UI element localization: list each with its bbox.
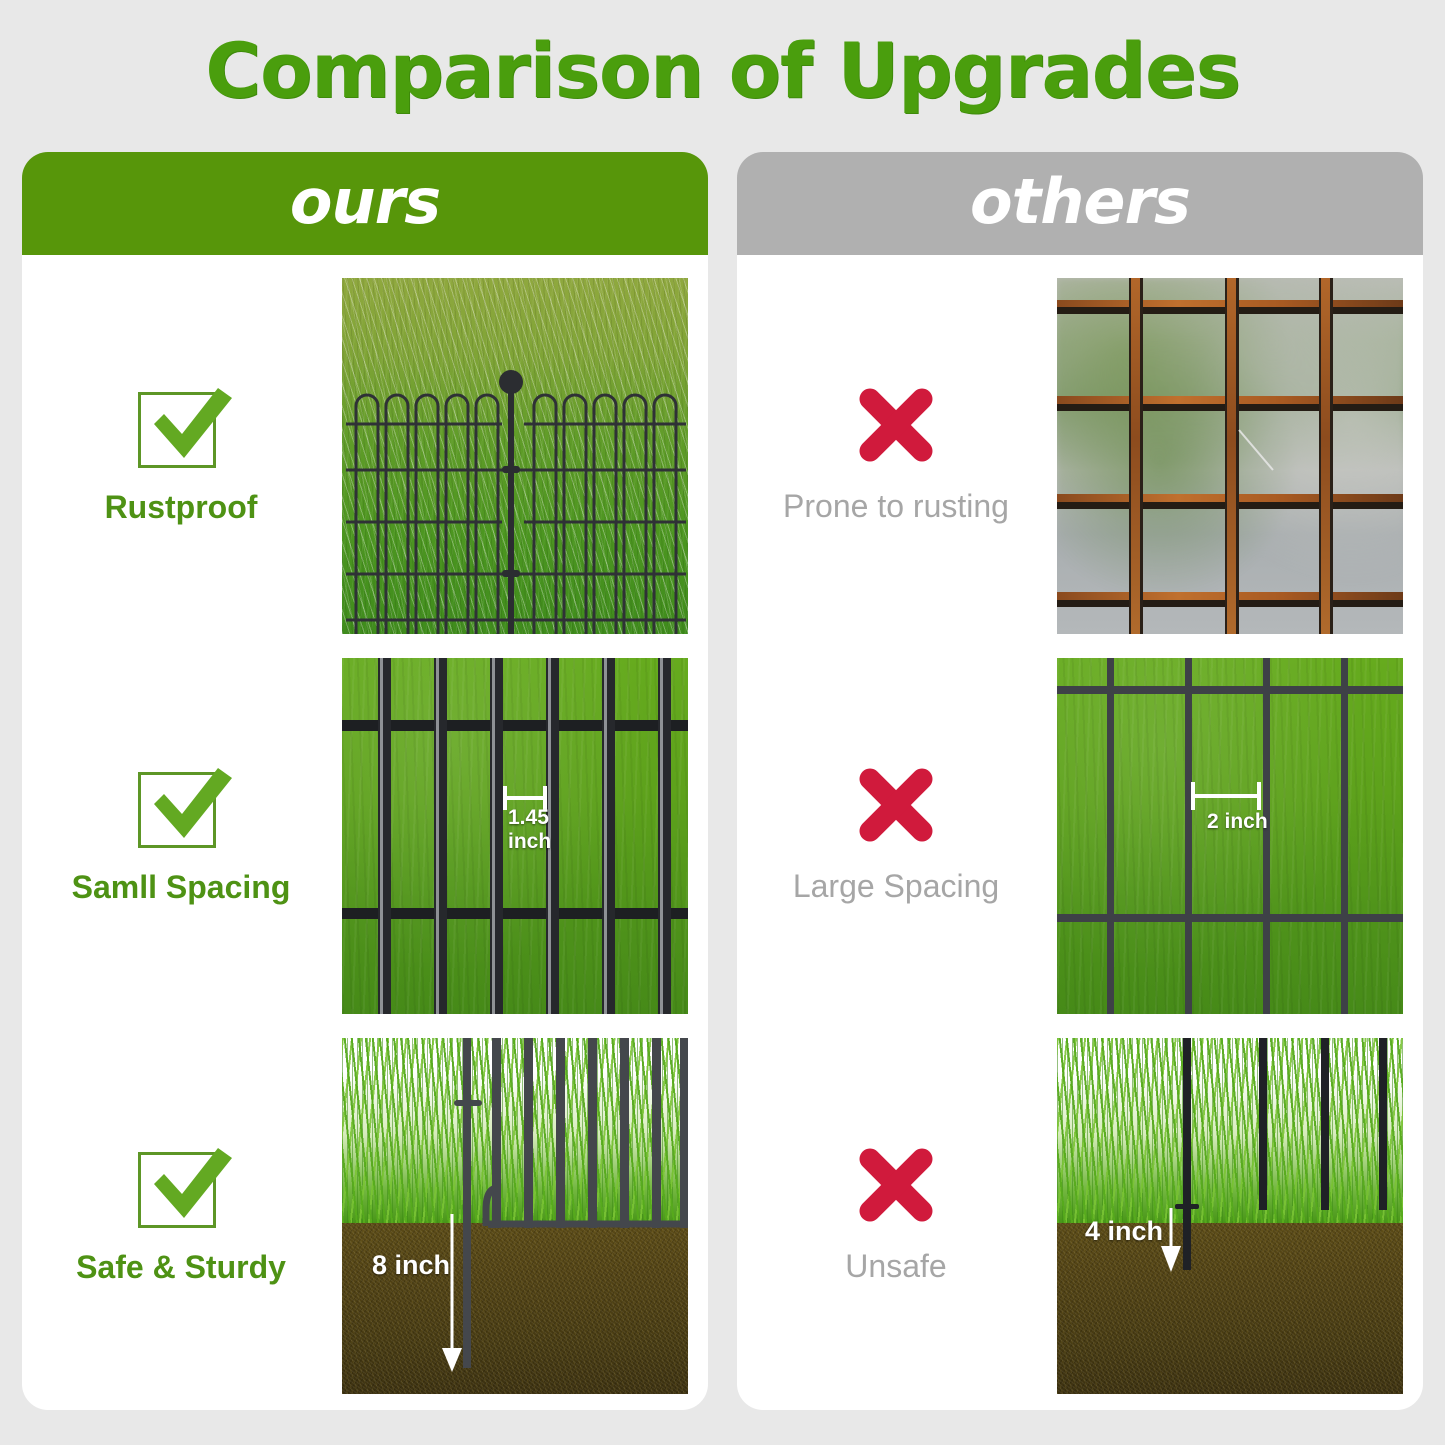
column-header-ours: ours	[22, 152, 708, 255]
shallow-anchor-stake-photo: 4 inch	[1057, 1038, 1403, 1394]
feature-small-spacing: Samll Spacing	[22, 762, 340, 910]
column-others: others Prone to rusting	[737, 152, 1423, 1410]
page-title: Comparison of Upgrades	[0, 28, 1445, 114]
column-header-ours-label: ours	[290, 171, 440, 233]
feature-label-large-spacing: Large Spacing	[793, 867, 999, 905]
rusted-wire-grid-photo	[1057, 278, 1403, 634]
feature-label-safe-sturdy: Safe & Sturdy	[76, 1248, 286, 1286]
feature-label-prone-to-rusting: Prone to rusting	[783, 487, 1009, 525]
red-x-icon	[854, 1143, 938, 1227]
feature-label-unsafe: Unsafe	[845, 1247, 946, 1285]
feature-label-rustproof: Rustproof	[105, 488, 258, 526]
column-body-others: Prone to rusting	[737, 255, 1423, 1410]
green-check-icon	[138, 762, 224, 848]
feature-label-small-spacing: Samll Spacing	[72, 868, 291, 906]
annotation-145-inch: 1.45 inch	[508, 806, 551, 854]
comparison-infographic: Comparison of Upgrades ours Rustproof	[0, 0, 1445, 1445]
row-unsafe-others: Unsafe	[737, 1031, 1423, 1401]
row-spacing-others: Large Spacing	[737, 651, 1423, 1021]
rain-on-rustproof-fence-photo	[342, 278, 688, 634]
row-sturdy-ours: Safe & Sturdy	[22, 1031, 708, 1401]
row-spacing-ours: Samll Spacing	[22, 651, 708, 1021]
feature-rustproof: Rustproof	[22, 382, 340, 530]
column-body-ours: Rustproof	[22, 255, 708, 1410]
feature-large-spacing: Large Spacing	[737, 763, 1055, 909]
column-ours: ours Rustproof	[22, 152, 708, 1410]
annotation-4-inch: 4 inch	[1085, 1216, 1163, 1246]
narrow-bar-spacing-photo: 1.45 inch	[342, 658, 688, 1014]
red-x-icon	[854, 763, 938, 847]
green-check-icon	[138, 382, 224, 468]
row-rustproof-ours: Rustproof	[22, 271, 708, 641]
feature-unsafe: Unsafe	[737, 1143, 1055, 1289]
green-check-icon	[138, 1142, 224, 1228]
red-x-icon	[854, 383, 938, 467]
deep-anchor-stake-photo: 8 inch	[342, 1038, 688, 1394]
feature-safe-sturdy: Safe & Sturdy	[22, 1142, 340, 1290]
feature-prone-to-rusting: Prone to rusting	[737, 383, 1055, 529]
row-rusting-others: Prone to rusting	[737, 271, 1423, 641]
column-header-others-label: others	[970, 171, 1190, 233]
wide-bar-spacing-photo: 2 inch	[1057, 658, 1403, 1014]
annotation-2-inch: 2 inch	[1207, 810, 1268, 834]
column-header-others: others	[737, 152, 1423, 255]
annotation-8-inch: 8 inch	[372, 1250, 450, 1280]
